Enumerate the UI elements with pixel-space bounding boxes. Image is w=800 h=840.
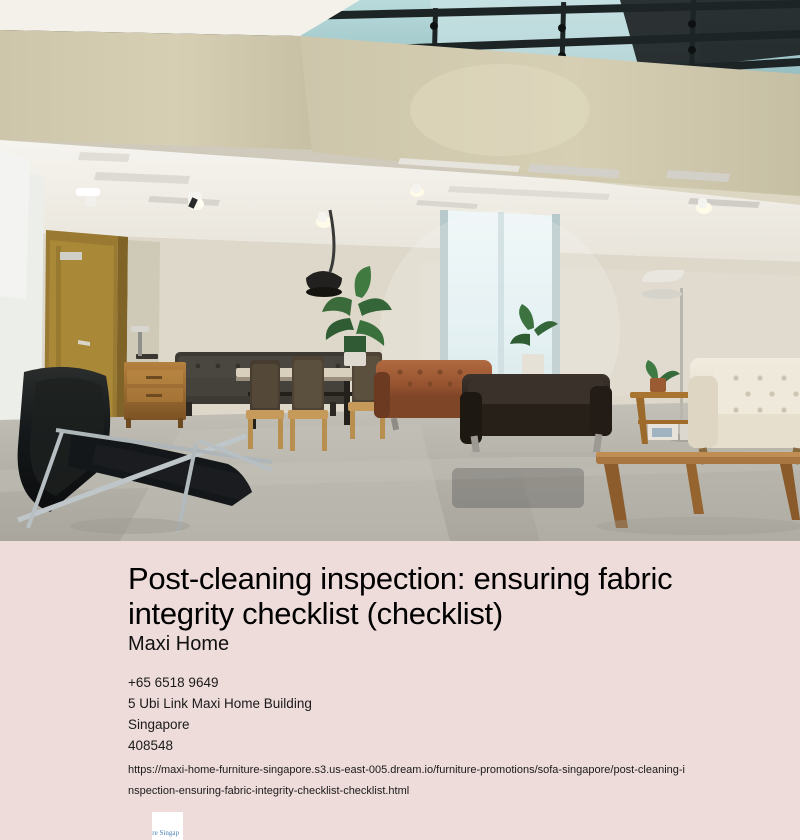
showroom-illustration	[0, 0, 800, 541]
foreground-sofa-edge	[452, 468, 584, 508]
logo-caption: i Furniture Singap	[152, 829, 183, 837]
article-url[interactable]: https://maxi-home-furniture-singapore.s3…	[128, 760, 688, 802]
logo-thumbnail[interactable]: i Furniture Singap	[152, 812, 183, 840]
contact-block: +65 6518 9649 5 Ubi Link Maxi Home Build…	[128, 672, 728, 756]
page-title: Post-cleaning inspection: ensuring fabri…	[128, 561, 688, 631]
contact-country: Singapore	[128, 714, 728, 735]
company-name: Maxi Home	[128, 631, 229, 657]
contact-street: 5 Ubi Link Maxi Home Building	[128, 693, 728, 714]
hero-photo	[0, 0, 800, 541]
contact-postal-code: 408548	[128, 735, 728, 756]
contact-phone[interactable]: +65 6518 9649	[128, 672, 728, 693]
